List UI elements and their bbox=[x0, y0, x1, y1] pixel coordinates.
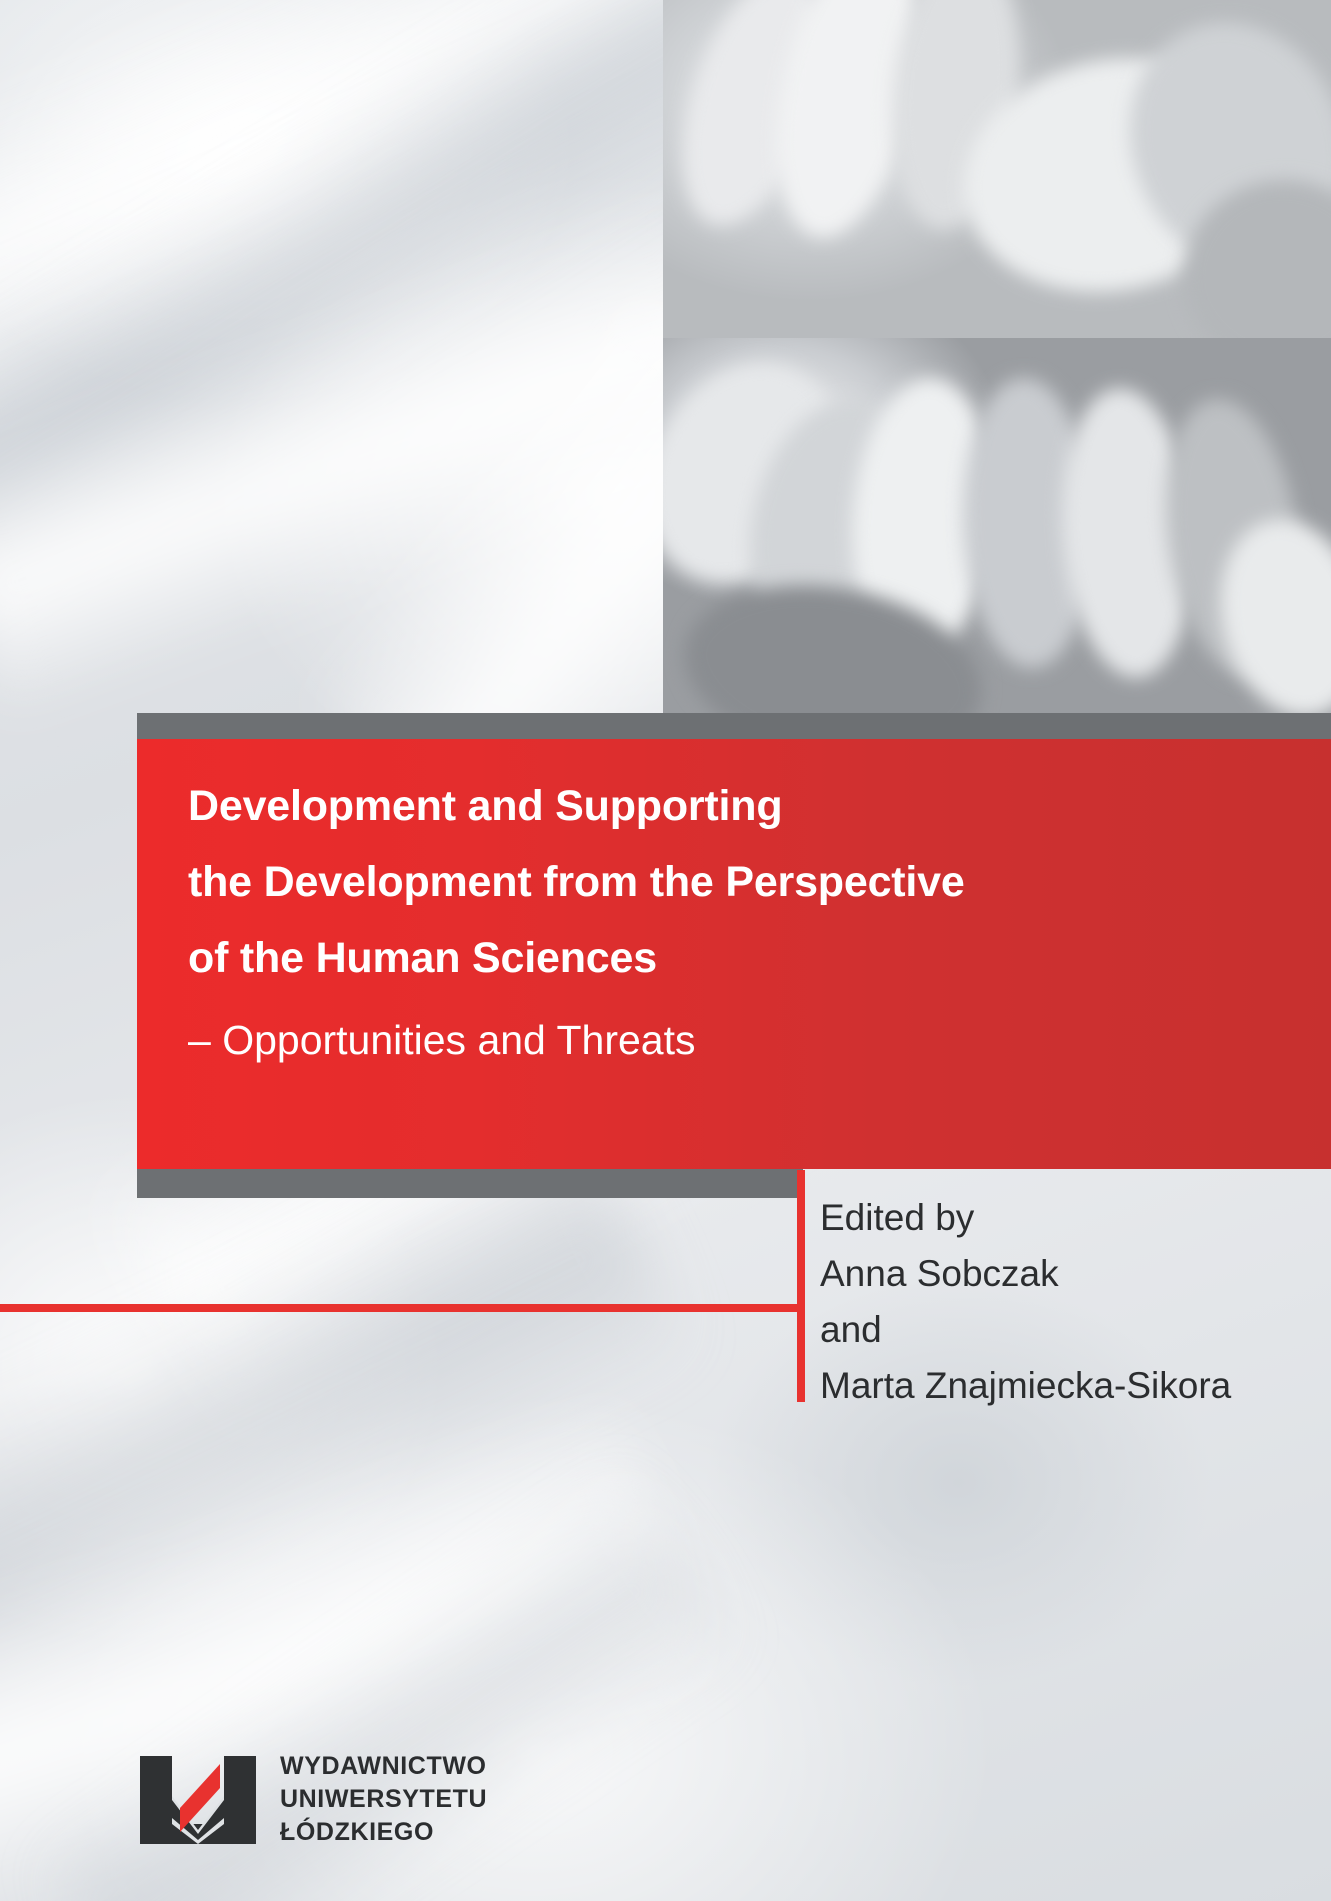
university-of-lodz-press-mark-icon bbox=[138, 1756, 258, 1844]
title-gray-bar-bottom bbox=[137, 1169, 803, 1198]
finger-shape bbox=[879, 0, 1033, 236]
finger-shape bbox=[843, 373, 1002, 662]
finger-shape bbox=[753, 0, 943, 250]
hands-photo-lower bbox=[663, 338, 1331, 732]
editors-block: Edited by Anna Sobczak and Marta Znajmie… bbox=[820, 1190, 1320, 1414]
publisher-line-2: UNIWERSYTETU bbox=[280, 1783, 487, 1816]
finger-shape bbox=[1053, 384, 1203, 682]
publisher-line-1: WYDAWNICTWO bbox=[280, 1750, 487, 1783]
title-line-3: of the Human Sciences bbox=[188, 920, 1298, 996]
title-gray-bar-top bbox=[137, 713, 1331, 739]
shadow-shape bbox=[671, 563, 996, 732]
publisher-line-3: ŁÓDZKIEGO bbox=[280, 1816, 487, 1849]
finger-shape bbox=[725, 382, 941, 663]
editor-name-2: Marta Znajmiecka-Sikora bbox=[820, 1358, 1320, 1414]
finger-shape bbox=[958, 376, 1098, 670]
cloth-fold bbox=[0, 1107, 696, 1753]
book-title: Development and Supporting the Developme… bbox=[188, 768, 1298, 1078]
hands-photo-upper bbox=[663, 0, 1331, 338]
palm-shape bbox=[1171, 167, 1331, 338]
finger-shape bbox=[663, 338, 876, 617]
publisher-logo: WYDAWNICTWO UNIWERSYTETU ŁÓDZKIEGO bbox=[138, 1750, 487, 1849]
edited-by-label: Edited by bbox=[820, 1190, 1320, 1246]
title-line-1: Development and Supporting bbox=[188, 768, 1298, 844]
editors-and: and bbox=[820, 1302, 1320, 1358]
book-subtitle: – Opportunities and Threats bbox=[188, 1002, 1298, 1078]
palm-shape bbox=[1094, 0, 1331, 300]
palm-shape bbox=[942, 31, 1283, 318]
title-line-2: the Development from the Perspective bbox=[188, 844, 1298, 920]
editor-name-1: Anna Sobczak bbox=[820, 1246, 1320, 1302]
finger-shape bbox=[1149, 390, 1317, 685]
vertical-red-rule bbox=[797, 1170, 805, 1402]
horizontal-red-rule bbox=[0, 1304, 804, 1312]
fingernail-shape bbox=[1201, 504, 1331, 732]
finger-shape bbox=[663, 0, 850, 242]
book-cover: Development and Supporting the Developme… bbox=[0, 0, 1331, 1901]
publisher-name: WYDAWNICTWO UNIWERSYTETU ŁÓDZKIEGO bbox=[280, 1750, 487, 1849]
